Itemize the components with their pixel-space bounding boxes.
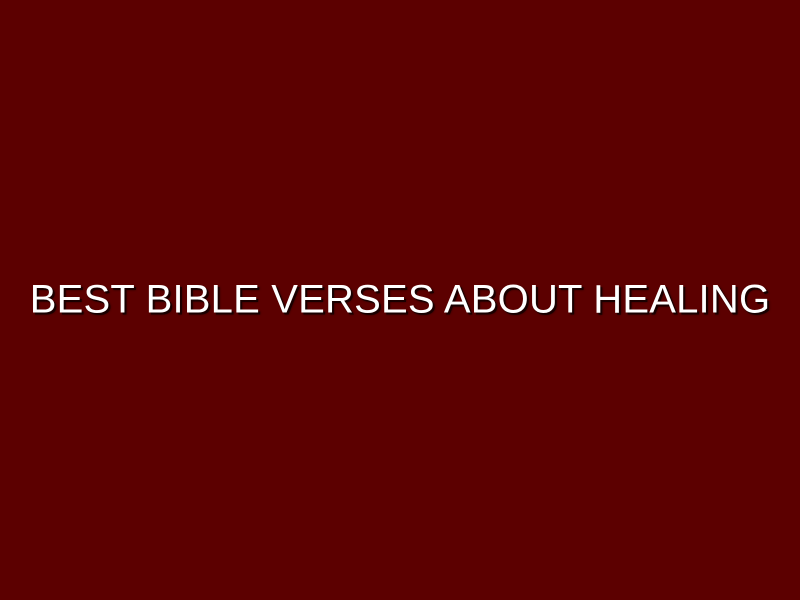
headline-band: BEST BIBLE VERSES ABOUT HEALING [0, 278, 800, 320]
title-card: BEST BIBLE VERSES ABOUT HEALING [0, 0, 800, 600]
page-title: BEST BIBLE VERSES ABOUT HEALING [30, 278, 771, 320]
